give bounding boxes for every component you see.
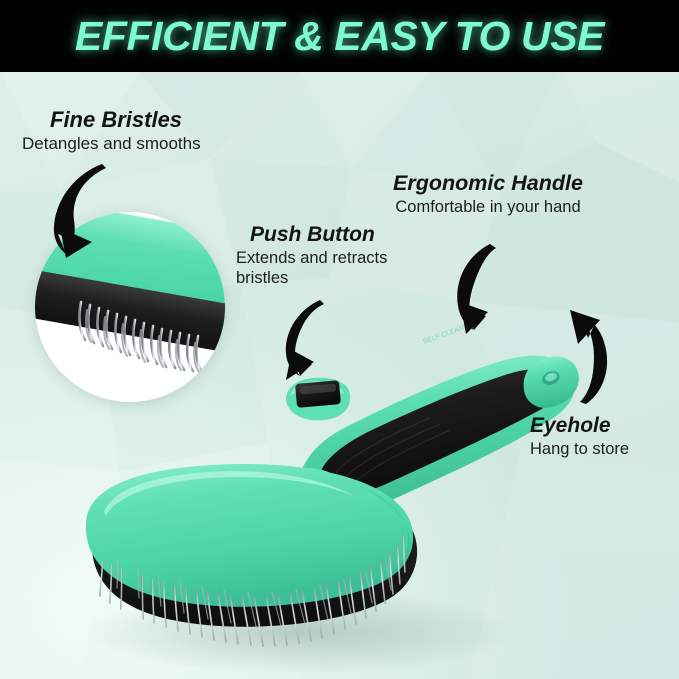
callout-ergonomic-handle-title: Ergonomic Handle — [388, 172, 588, 195]
arrow-to-ergonomic-handle-icon — [432, 240, 528, 340]
callout-fine-bristles-subtitle: Detangles and smooths — [22, 134, 201, 154]
callout-push-button: Push Button Extends and retracts bristle… — [236, 224, 414, 288]
arrow-to-push-button-icon — [258, 296, 346, 388]
callout-eyehole: Eyehole Hang to store — [530, 415, 679, 460]
callout-ergonomic-handle: Ergonomic Handle Comfortable in your han… — [388, 172, 588, 217]
header-title: EFFICIENT & EASY TO USE — [0, 0, 679, 72]
callout-eyehole-subtitle: Hang to store — [530, 440, 679, 459]
arrow-to-fine-bristles-icon — [36, 158, 146, 270]
callout-fine-bristles-title: Fine Bristles — [22, 108, 201, 131]
callout-ergonomic-handle-subtitle: Comfortable in your hand — [388, 198, 588, 217]
header-banner: EFFICIENT & EASY TO USE — [0, 0, 679, 72]
callout-push-button-subtitle: Extends and retracts bristles — [236, 249, 414, 288]
product-infographic: EFFICIENT & EASY TO USE — [0, 0, 679, 679]
callout-fine-bristles: Fine Bristles Detangles and smooths — [22, 108, 201, 154]
callout-push-button-title: Push Button — [236, 224, 414, 246]
arrow-to-eyehole-icon — [540, 300, 630, 410]
callout-eyehole-title: Eyehole — [530, 415, 679, 437]
